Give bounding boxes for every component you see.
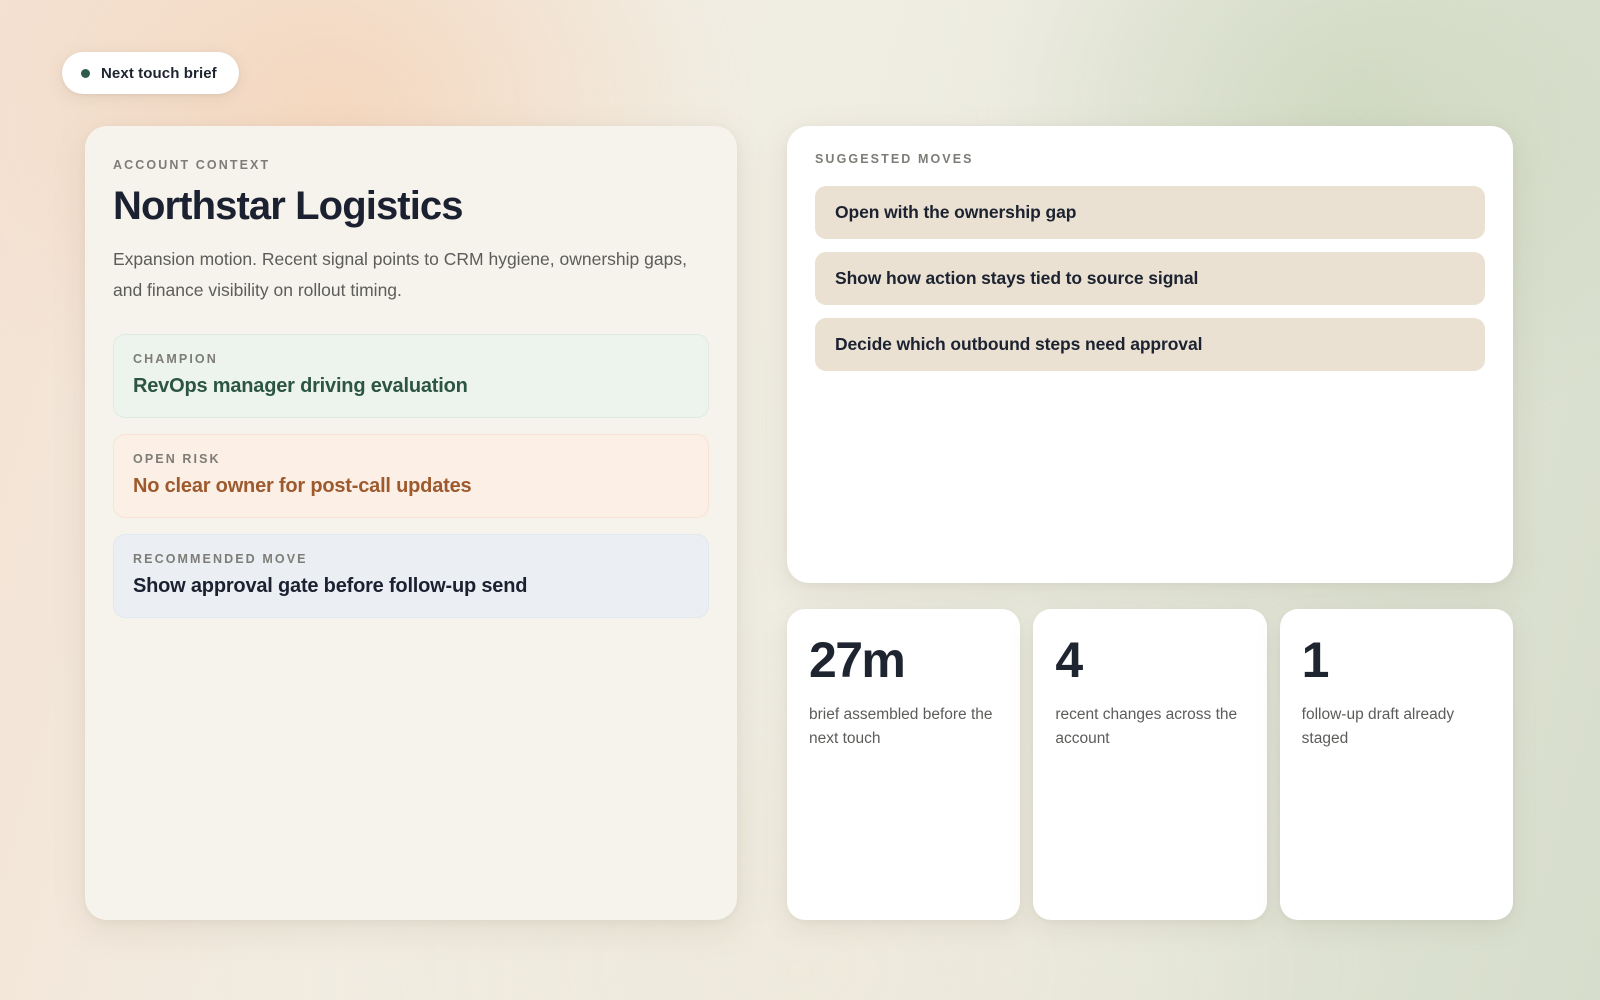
suggested-moves-panel: SUGGESTED MOVES Open with the ownership …	[787, 126, 1513, 583]
next-touch-brief-badge[interactable]: Next touch brief	[62, 52, 239, 94]
fact-champion-value: RevOps manager driving evaluation	[133, 375, 689, 398]
fact-open-risk-value: No clear owner for post-call updates	[133, 475, 689, 498]
stat-label: brief assembled before the next touch	[809, 703, 998, 751]
suggested-moves-eyebrow: SUGGESTED MOVES	[815, 152, 1485, 166]
account-summary: Expansion motion. Recent signal points t…	[113, 244, 709, 306]
stat-label: recent changes across the account	[1055, 703, 1244, 751]
fact-champion: CHAMPION RevOps manager driving evaluati…	[113, 334, 709, 418]
status-dot-icon	[81, 69, 90, 78]
stat-card-brief-time: 27m brief assembled before the next touc…	[787, 609, 1020, 920]
stat-value: 27m	[809, 635, 998, 685]
stat-label: follow-up draft already staged	[1302, 703, 1491, 751]
suggested-move-item-3[interactable]: Decide which outbound steps need approva…	[815, 318, 1485, 371]
badge-label: Next touch brief	[101, 65, 217, 82]
stat-card-recent-changes: 4 recent changes across the account	[1033, 609, 1266, 920]
stat-value: 1	[1302, 635, 1491, 685]
stat-value: 4	[1055, 635, 1244, 685]
stat-card-staged-drafts: 1 follow-up draft already staged	[1280, 609, 1513, 920]
fact-recommended-move: RECOMMENDED MOVE Show approval gate befo…	[113, 534, 709, 618]
fact-open-risk-eyebrow: OPEN RISK	[133, 452, 689, 466]
fact-recommended-move-eyebrow: RECOMMENDED MOVE	[133, 552, 689, 566]
fact-recommended-move-value: Show approval gate before follow-up send	[133, 575, 689, 598]
suggested-move-item-2[interactable]: Show how action stays tied to source sig…	[815, 252, 1485, 305]
account-context-eyebrow: ACCOUNT CONTEXT	[113, 158, 709, 172]
account-context-card: ACCOUNT CONTEXT Northstar Logistics Expa…	[85, 126, 737, 920]
suggested-moves-list: Open with the ownership gap Show how act…	[815, 186, 1485, 371]
account-fact-list: CHAMPION RevOps manager driving evaluati…	[113, 334, 709, 618]
fact-champion-eyebrow: CHAMPION	[133, 352, 689, 366]
stats-row: 27m brief assembled before the next touc…	[787, 609, 1513, 920]
fact-open-risk: OPEN RISK No clear owner for post-call u…	[113, 434, 709, 518]
page-title: Northstar Logistics	[113, 185, 709, 227]
suggested-move-item-1[interactable]: Open with the ownership gap	[815, 186, 1485, 239]
